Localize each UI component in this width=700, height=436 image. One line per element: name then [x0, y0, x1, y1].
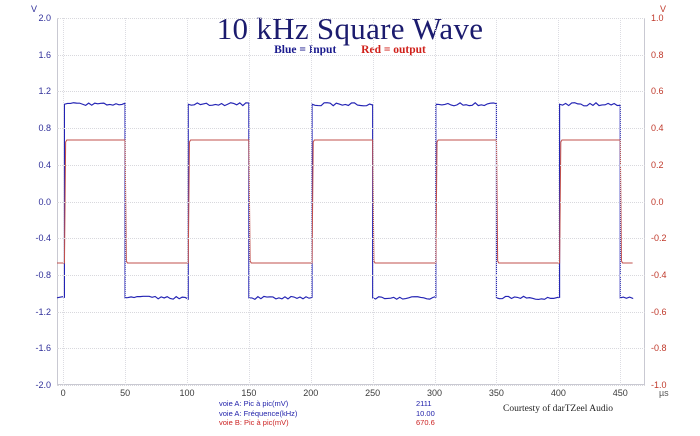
- right-axis-tick-label: 0.6: [651, 86, 664, 96]
- vertical-gridline: [620, 18, 621, 385]
- readout-value: 2111: [416, 399, 432, 409]
- right-axis-tick-label: 0.2: [651, 160, 664, 170]
- right-axis-tick-label: -0.4: [651, 270, 667, 280]
- vertical-gridline: [249, 18, 250, 385]
- readout-value: 670.6: [416, 418, 435, 428]
- right-axis-tick-label: -0.6: [651, 307, 667, 317]
- bottom-axis-tick-label: 0: [61, 388, 66, 398]
- vertical-gridline: [558, 18, 559, 385]
- right-axis-tick-label: -0.8: [651, 343, 667, 353]
- readout-label: voie A: Pic à pic(mV): [219, 399, 288, 409]
- readout-label: voie B: Pic à pic(mV): [219, 418, 289, 428]
- horizontal-gridline: [57, 91, 645, 92]
- left-axis-tick-label: -1.2: [35, 307, 51, 317]
- right-axis-tick-label: 0.4: [651, 123, 664, 133]
- vertical-gridline: [187, 18, 188, 385]
- bottom-axis-tick-label: 150: [241, 388, 256, 398]
- vertical-gridline: [125, 18, 126, 385]
- left-axis-tick-label: -0.8: [35, 270, 51, 280]
- oscilloscope-screenshot: 10 kHz Square Wave Blue = Input Red = ou…: [0, 0, 700, 436]
- horizontal-gridline: [57, 312, 645, 313]
- vertical-gridline: [373, 18, 374, 385]
- plot-area: [57, 18, 645, 385]
- bottom-axis-tick-label: 50: [120, 388, 130, 398]
- left-axis-unit: V: [31, 4, 37, 14]
- right-axis-tick-labels: 1.00.80.60.40.20.0-0.2-0.4-0.6-0.8-1.0: [651, 18, 696, 385]
- right-axis-tick-label: 1.0: [651, 13, 664, 23]
- left-axis-tick-label: -1.6: [35, 343, 51, 353]
- left-axis-tick-labels: 2.01.61.20.80.40.0-0.4-0.8-1.2-1.6-2.0: [6, 18, 51, 385]
- readout-label: voie A: Fréquence(kHz): [219, 409, 297, 419]
- right-axis-tick-label: -0.2: [651, 233, 667, 243]
- left-axis-tick-label: 0.0: [38, 197, 51, 207]
- left-axis-tick-label: -2.0: [35, 380, 51, 390]
- vertical-gridline: [311, 18, 312, 385]
- right-axis-tick-label: 0.8: [651, 50, 664, 60]
- horizontal-gridline: [57, 18, 645, 19]
- vertical-gridline: [496, 18, 497, 385]
- vertical-gridline: [435, 18, 436, 385]
- left-axis-tick-label: 2.0: [38, 13, 51, 23]
- left-axis-tick-label: 1.2: [38, 86, 51, 96]
- vertical-gridline: [63, 18, 64, 385]
- bottom-axis-tick-label: 350: [489, 388, 504, 398]
- horizontal-gridline: [57, 165, 645, 166]
- right-axis-tick-label: 0.0: [651, 197, 664, 207]
- left-axis-tick-label: -0.4: [35, 233, 51, 243]
- readout-value: 10.00: [416, 409, 435, 419]
- bottom-axis-tick-label: 400: [551, 388, 566, 398]
- bottom-axis-tick-label: 450: [613, 388, 628, 398]
- courtesy-credit: Courtesty of darTZeel Audio: [503, 404, 613, 414]
- left-axis-tick-label: 0.8: [38, 123, 51, 133]
- bottom-axis-tick-label: 200: [303, 388, 318, 398]
- bottom-axis-tick-label: 100: [179, 388, 194, 398]
- left-axis-tick-label: 1.6: [38, 50, 51, 60]
- horizontal-gridline: [57, 348, 645, 349]
- left-axis-tick-label: 0.4: [38, 160, 51, 170]
- horizontal-gridline: [57, 385, 645, 386]
- horizontal-gridline: [57, 275, 645, 276]
- horizontal-gridline: [57, 128, 645, 129]
- right-axis-tick-label: -1.0: [651, 380, 667, 390]
- bottom-axis-tick-labels: 050100150200250300350400450: [57, 388, 645, 402]
- horizontal-gridline: [57, 55, 645, 56]
- bottom-axis-tick-label: 300: [427, 388, 442, 398]
- horizontal-gridline: [57, 238, 645, 239]
- bottom-axis-tick-label: 250: [365, 388, 380, 398]
- horizontal-gridline: [57, 202, 645, 203]
